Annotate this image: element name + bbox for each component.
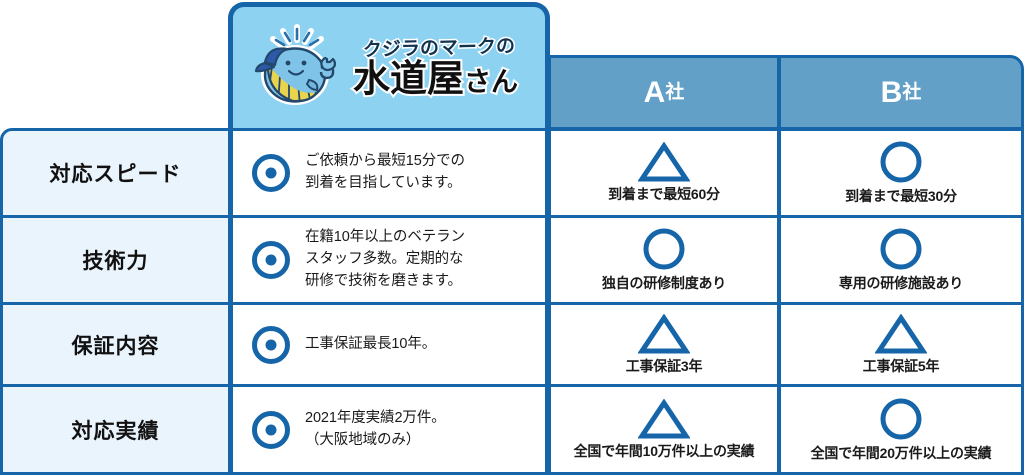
cell-b-row1: 到着まで最短30分 — [778, 128, 1024, 218]
cell-b-row3-note: 工事保証5年 — [863, 356, 940, 376]
triangle-icon — [638, 399, 690, 439]
cell-own-row3-text: 工事保証最長10年。 — [305, 334, 436, 356]
cell-b-row2-note: 専用の研修施設あり — [839, 273, 963, 293]
comparison-table: 対応スピード 技術力 保証内容 対応実績 A社 B社 到着まで最短60分 独自の… — [0, 0, 1024, 475]
circle-icon — [878, 397, 924, 441]
triangle-icon — [875, 314, 927, 354]
row-label-cell: 保証内容 — [0, 302, 231, 387]
triangle-icon — [638, 314, 690, 354]
cell-own-row2: 在籍10年以上のベテラン スタッフ多数。定期的な 研修で技術を磨きます。 — [228, 215, 550, 305]
cell-a-row4-note: 全国で年間10万件以上の実績 — [574, 441, 755, 461]
row-label-text: 対応スピード — [50, 158, 182, 188]
cell-a-row3: 工事保証3年 — [548, 302, 780, 387]
column-header-a: A社 — [548, 55, 780, 130]
double-circle-icon — [251, 410, 291, 450]
row-label-text: 保証内容 — [72, 330, 160, 360]
cell-b-row3: 工事保証5年 — [778, 302, 1024, 387]
double-circle-icon — [251, 240, 291, 280]
cell-own-row1: ご依頼から最短15分での 到着を目指しています。 — [228, 128, 550, 218]
cell-a-row4: 全国で年間10万件以上の実績 — [548, 384, 780, 475]
brand-name-suffix: さん — [464, 67, 518, 97]
cell-a-row2-note: 独自の研修制度あり — [602, 273, 726, 293]
row-label-text: 対応実績 — [72, 415, 160, 445]
cell-b-row1-note: 到着まで最短30分 — [845, 186, 957, 206]
circle-icon — [878, 227, 924, 271]
double-circle-icon — [251, 325, 291, 365]
circle-icon — [641, 227, 687, 271]
cell-own-row1-text: ご依頼から最短15分での 到着を目指しています。 — [305, 151, 465, 195]
column-header-b-suffix: 社 — [902, 83, 921, 102]
column-header-a-letter: A — [644, 78, 666, 108]
brand-name-main: 水道屋 — [353, 58, 464, 99]
row-label-cell: 対応スピード — [0, 128, 231, 218]
double-circle-icon — [251, 153, 291, 193]
whale-mascot-icon — [247, 18, 347, 118]
column-header-a-suffix: 社 — [665, 83, 684, 102]
brand-tagline: クジラのマークの — [363, 36, 518, 59]
brand-logo: クジラのマークの 水道屋さん — [247, 18, 518, 118]
row-label-cell: 対応実績 — [0, 384, 231, 475]
cell-own-row3: 工事保証最長10年。 — [228, 302, 550, 387]
cell-own-row4-text: 2021年度実績2万件。 （大阪地域のみ） — [305, 408, 446, 452]
cell-a-row2: 独自の研修制度あり — [548, 215, 780, 305]
row-label-cell: 技術力 — [0, 215, 231, 305]
circle-icon — [878, 140, 924, 184]
cell-a-row1-note: 到着まで最短60分 — [608, 184, 720, 204]
column-header-b: B社 — [778, 55, 1024, 130]
cell-b-row2: 専用の研修施設あり — [778, 215, 1024, 305]
cell-b-row4-note: 全国で年間20万件以上の実績 — [811, 443, 992, 463]
triangle-icon — [638, 142, 690, 182]
column-header-b-letter: B — [881, 78, 903, 108]
cell-own-row2-text: 在籍10年以上のベテラン スタッフ多数。定期的な 研修で技術を磨きます。 — [305, 227, 465, 292]
brand-logo-text: クジラのマークの 水道屋さん — [353, 39, 518, 97]
brand-name: 水道屋さん — [353, 60, 518, 97]
cell-b-row4: 全国で年間20万件以上の実績 — [778, 384, 1024, 475]
cell-a-row1: 到着まで最短60分 — [548, 128, 780, 218]
row-label-text: 技術力 — [83, 245, 149, 275]
cell-own-row4: 2021年度実績2万件。 （大阪地域のみ） — [228, 384, 550, 475]
cell-a-row3-note: 工事保証3年 — [626, 356, 703, 376]
column-header-own: クジラのマークの 水道屋さん — [228, 2, 550, 128]
